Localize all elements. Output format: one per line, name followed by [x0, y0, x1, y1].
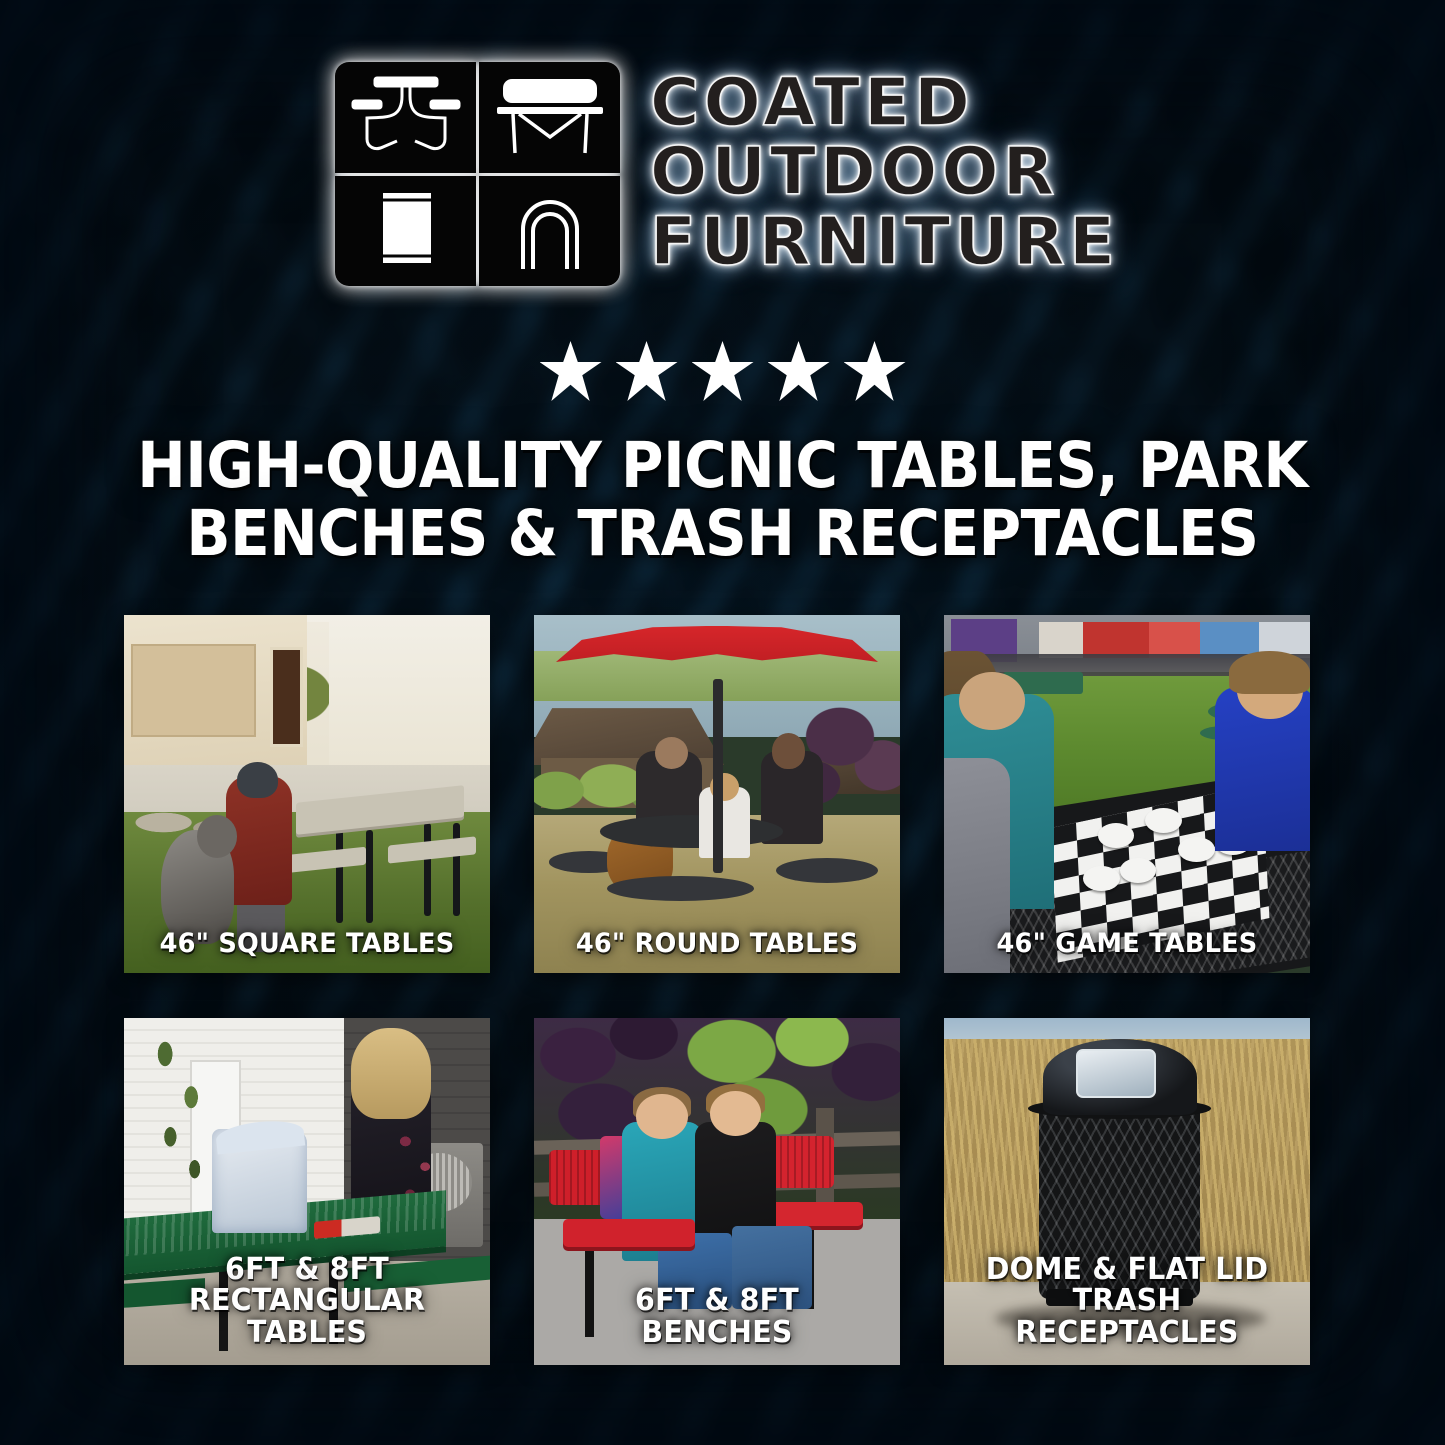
table-leg [424, 823, 431, 916]
tile-caption: DOME & FLAT LID TRASH RECEPTACLES [953, 1254, 1301, 1363]
checker-piece [1083, 866, 1120, 891]
headline-line-2: BENCHES & TRASH RECEPTACLES [113, 500, 1332, 568]
star-icon [616, 341, 678, 401]
product-tile-game-tables[interactable]: 46" GAME TABLES [944, 615, 1310, 973]
table-leg [336, 830, 343, 923]
logo-line-coated: COATED [650, 69, 1119, 136]
caption-line: 6FT & 8FT [549, 1285, 885, 1317]
caption-line: BENCHES [549, 1317, 885, 1349]
tile-caption: 46" GAME TABLES [953, 930, 1301, 973]
caption-line: DOME & FLAT LID [959, 1254, 1295, 1286]
table-leg [366, 830, 373, 923]
checker-piece [1178, 837, 1215, 862]
bike-rack-arch-icon [479, 176, 620, 287]
star-icon [844, 341, 906, 401]
promo-banner: COATED OUTDOOR FURNITURE HIGH-QUALITY PI… [0, 0, 1445, 1445]
boy-hair [1229, 651, 1310, 694]
caption-line: 6FT & 8FT [139, 1254, 475, 1286]
tile-caption: 6FT & 8FT RECTANGULAR TABLES [133, 1254, 481, 1363]
product-tile-rectangular-tables[interactable]: 6FT & 8FT RECTANGULAR TABLES [124, 1018, 490, 1365]
tile-caption: 46" ROUND TABLES [543, 930, 891, 973]
logo-line-outdoor: OUTDOOR [650, 138, 1119, 205]
round-table-top [600, 815, 783, 847]
woman-head [772, 733, 805, 769]
tile-caption: 6FT & 8FT BENCHES [543, 1285, 891, 1363]
scene-round-tables [534, 615, 900, 973]
table-leg [453, 823, 460, 916]
logo-icon-grid [335, 62, 620, 286]
brand-logo: COATED OUTDOOR FURNITURE [0, 62, 1445, 286]
picnic-table-front-icon [335, 62, 476, 173]
logo-wordmark: COATED OUTDOOR FURNITURE [650, 69, 1110, 279]
page-headline: HIGH-QUALITY PICNIC TABLES, PARK BENCHES… [113, 432, 1332, 568]
boy-head [710, 1091, 761, 1136]
window [270, 647, 303, 747]
festival-tent [1083, 622, 1149, 658]
star-icon [692, 341, 754, 401]
product-tile-square-tables[interactable]: 46" SQUARE TABLES [124, 615, 490, 973]
trash-receptacle-icon [335, 176, 476, 287]
caption-line: 46" GAME TABLES [959, 930, 1295, 959]
person-head [237, 762, 277, 798]
star-rating [0, 341, 1445, 401]
umbrella-pole [713, 679, 723, 872]
boy-head [636, 1094, 687, 1139]
blonde-hair [351, 1028, 432, 1118]
product-tile-trash-receptacles[interactable]: DOME & FLAT LID TRASH RECEPTACLES [944, 1018, 1310, 1365]
man-head [655, 737, 688, 769]
caption-line: 46" ROUND TABLES [549, 930, 885, 959]
scene-game-tables [944, 615, 1310, 973]
star-icon [768, 341, 830, 401]
checker-piece [1098, 823, 1135, 848]
scene-square-tables [124, 615, 490, 973]
festival-tent [1149, 622, 1200, 658]
caption-line: 46" SQUARE TABLES [139, 930, 475, 959]
bench-side-icon [479, 62, 620, 173]
product-tile-benches[interactable]: 6FT & 8FT BENCHES [534, 1018, 900, 1365]
woman-head [959, 672, 1025, 729]
dome-lid-opening [1076, 1049, 1157, 1098]
product-category-grid: 46" SQUARE TABLES [124, 615, 1322, 1365]
product-tile-round-tables[interactable]: 46" ROUND TABLES [534, 615, 900, 973]
tile-caption: 46" SQUARE TABLES [133, 930, 481, 973]
headline-line-1: HIGH-QUALITY PICNIC TABLES, PARK [113, 432, 1332, 500]
garage-door [131, 644, 255, 737]
festival-tent [1039, 622, 1083, 658]
caption-line: TRASH RECEPTACLES [959, 1285, 1295, 1349]
star-icon [540, 341, 602, 401]
caption-line: RECTANGULAR TABLES [139, 1285, 475, 1349]
bench-seat [563, 1219, 695, 1247]
logo-line-furniture: FURNITURE [650, 208, 1119, 275]
